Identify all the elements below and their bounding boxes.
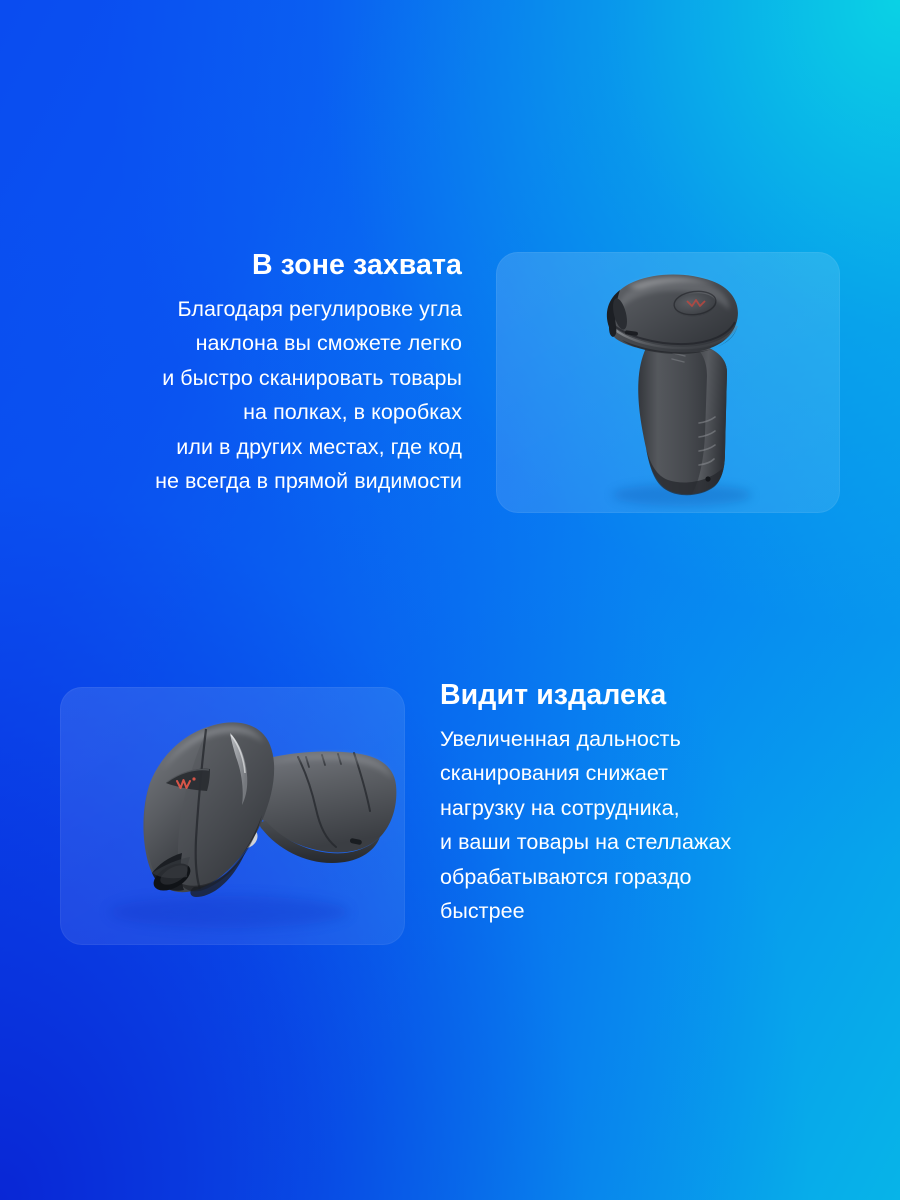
feature-top-body: Благодаря регулировке угла наклона вы см… <box>48 292 462 498</box>
feature-bottom-body-line: нагрузку на сотрудника, <box>440 791 852 825</box>
feature-top-text: В зоне захвата Благодаря регулировке угл… <box>48 248 462 498</box>
feature-bottom-body: Увеличенная дальность сканирования снижа… <box>440 722 852 928</box>
feature-top-body-line: и быстро сканировать товары <box>48 361 462 395</box>
feature-bottom-body-line: и ваши товары на стеллажах <box>440 825 852 859</box>
feature-top-title: В зоне захвата <box>48 248 462 282</box>
feature-bottom-body-line: сканирования снижает <box>440 756 852 790</box>
scanner-led-logo <box>177 777 196 788</box>
scanner-angled-image <box>496 252 840 513</box>
feature-bottom-title: Видит издалека <box>440 678 852 712</box>
feature-top-body-line: наклона вы сможете легко <box>48 326 462 360</box>
feature-bottom-body-line: Увеличенная дальность <box>440 722 852 756</box>
feature-top-body-line: не всегда в прямой видимости <box>48 464 462 498</box>
feature-bottom-body-line: обрабатываются гораздо <box>440 860 852 894</box>
feature-top-image-card <box>496 252 840 513</box>
feature-top-body-line: на полках, в коробках <box>48 395 462 429</box>
feature-top-body-line: Благодаря регулировке угла <box>48 292 462 326</box>
scanner-handheld-image <box>60 687 405 945</box>
promo-page: В зоне захвата Благодаря регулировке угл… <box>0 0 900 1200</box>
feature-bottom-body-line: быстрее <box>440 894 852 928</box>
feature-top-body-line: или в других местах, где код <box>48 430 462 464</box>
feature-bottom-image-card <box>60 687 405 945</box>
feature-bottom-text: Видит издалека Увеличенная дальность ска… <box>440 678 852 928</box>
scanner-overflow-stage <box>54 687 420 945</box>
